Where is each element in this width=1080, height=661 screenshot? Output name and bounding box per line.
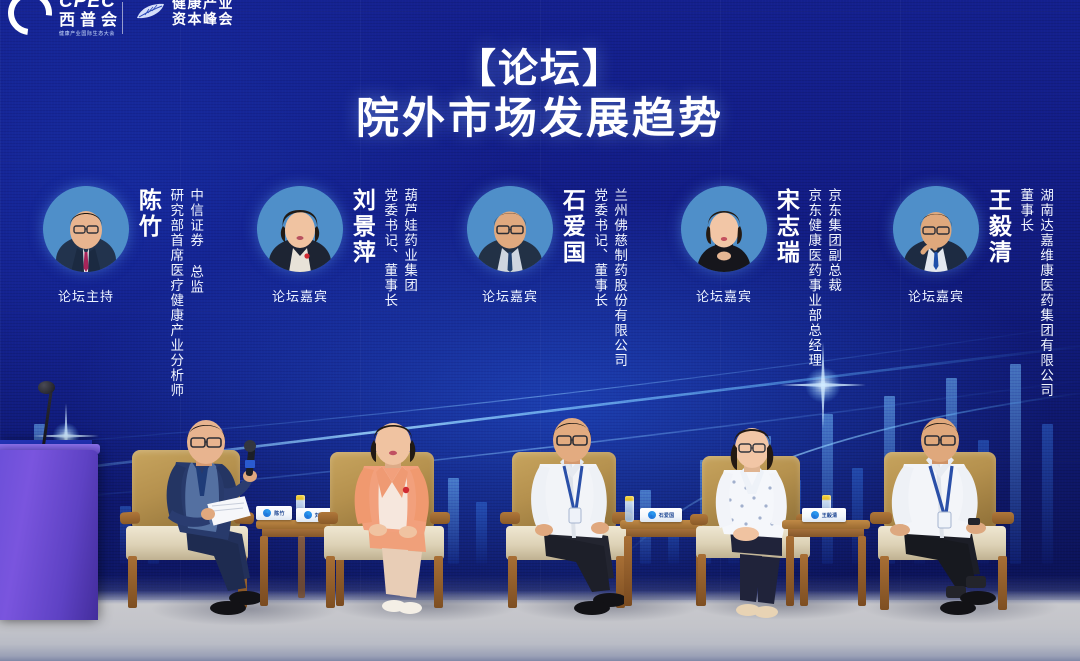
panelist-role: 论坛嘉宾 bbox=[482, 286, 538, 305]
panelist-card-row: 论坛主持 陈竹 中信证券 总监 研究部首席医疗健康产业分析师 bbox=[0, 186, 1080, 446]
panelist-card: 论坛嘉宾 石爱国 兰州佛慈制药股份有限公司 党委书记、董事长 bbox=[462, 186, 627, 368]
conference-stage-scene: CPEC 西普会 健康产业国际生态大会 健康产业 资本峰会 【论坛】 院外市场发… bbox=[0, 0, 1080, 661]
panelist-titles: 京东集团副总裁 京东健康医药事业部总经理 bbox=[801, 188, 841, 368]
panelist-portrait bbox=[257, 186, 343, 272]
water-bottle bbox=[625, 496, 634, 522]
panelist-portrait bbox=[467, 186, 553, 272]
panelist-title-line: 兰州佛慈制药股份有限公司 bbox=[610, 188, 627, 368]
panelist-card: 论坛嘉宾 刘景萍 葫芦娃药业集团 党委书记、董事长 bbox=[252, 186, 417, 308]
placard-name: 陈竹 bbox=[274, 510, 284, 517]
cpec-acronym: CPEC bbox=[59, 0, 122, 11]
summit-line-1: 健康产业 bbox=[172, 0, 234, 12]
panelist-title-line: 湖南达嘉维康医药集团有限公司 bbox=[1036, 188, 1053, 398]
forum-title-block: 【论坛】 院外市场发展趋势 bbox=[0, 46, 1080, 146]
panelist-titles: 兰州佛慈制药股份有限公司 党委书记、董事长 bbox=[587, 188, 627, 368]
forum-topic: 院外市场发展趋势 bbox=[0, 94, 1080, 146]
panelist-title-line: 党委书记、董事长 bbox=[590, 188, 607, 368]
name-placard: 石爱国 bbox=[640, 508, 682, 522]
name-placard: 王毅清 bbox=[802, 508, 846, 522]
panelist-title-line: 党委书记、董事长 bbox=[380, 188, 397, 308]
panelist-seated-liu-jingping bbox=[338, 420, 450, 620]
panelist-titles: 葫芦娃药业集团 党委书记、董事长 bbox=[377, 188, 417, 308]
panelist-name: 陈竹 bbox=[136, 188, 160, 240]
microphone-icon bbox=[38, 381, 55, 394]
side-table bbox=[782, 520, 870, 612]
panelist-title-line: 葫芦娃药业集团 bbox=[400, 188, 417, 308]
cpec-subtitle: 健康产业国际生态大会 bbox=[59, 32, 122, 37]
panelist-portrait bbox=[893, 186, 979, 272]
summit-line-2: 资本峰会 bbox=[172, 12, 234, 28]
cpec-ring-icon bbox=[0, 0, 61, 43]
panelist-title-line: 京东集团副总裁 bbox=[824, 188, 841, 368]
placard-logo-icon bbox=[263, 509, 271, 517]
panelist-role: 论坛嘉宾 bbox=[696, 286, 752, 305]
forum-label: 【论坛】 bbox=[0, 46, 1080, 92]
placard-logo-icon bbox=[304, 511, 312, 519]
panelist-card: 论坛主持 陈竹 中信证券 总监 研究部首席医疗健康产业分析师 bbox=[38, 186, 203, 398]
panelist-name: 王毅清 bbox=[986, 188, 1010, 266]
panelist-card: 论坛嘉宾 王毅清 湖南达嘉维康医药集团有限公司 董事长 bbox=[888, 186, 1053, 398]
panelist-name: 刘景萍 bbox=[350, 188, 374, 266]
panelist-portrait bbox=[681, 186, 767, 272]
cpec-logo: CPEC 西普会 健康产业国际生态大会 bbox=[8, 0, 122, 37]
panelist-role: 论坛嘉宾 bbox=[272, 286, 328, 305]
placard-name: 石爱国 bbox=[659, 512, 675, 519]
name-placard: 陈竹 bbox=[256, 506, 292, 520]
panelist-role: 论坛嘉宾 bbox=[908, 286, 964, 305]
logo-divider bbox=[122, 2, 123, 34]
panelist-seated-wang-yiqing bbox=[880, 418, 1012, 620]
panelist-titles: 中信证券 总监 研究部首席医疗健康产业分析师 bbox=[163, 188, 203, 398]
leaf-icon bbox=[136, 2, 166, 22]
placard-name: 王毅清 bbox=[822, 512, 838, 519]
panelist-titles: 湖南达嘉维康医药集团有限公司 董事长 bbox=[1013, 188, 1053, 398]
health-capital-summit-logo: 健康产业 资本峰会 bbox=[136, 0, 234, 27]
panelist-card: 论坛嘉宾 宋志瑞 京东集团副总裁 京东健康医药事业部总经理 bbox=[676, 186, 841, 368]
panelist-role: 论坛主持 bbox=[58, 286, 114, 305]
panelist-name: 石爱国 bbox=[560, 188, 584, 266]
placard-logo-icon bbox=[811, 511, 819, 519]
panelist-portrait bbox=[43, 186, 129, 272]
panelist-name: 宋志瑞 bbox=[774, 188, 798, 266]
podium bbox=[0, 450, 98, 620]
event-logo-bar: CPEC 西普会 健康产业国际生态大会 健康产业 资本峰会 bbox=[0, 0, 1080, 40]
panelist-title-line: 研究部首席医疗健康产业分析师 bbox=[166, 188, 183, 398]
placard-logo-icon bbox=[648, 511, 656, 519]
panelist-title-line: 京东健康医药事业部总经理 bbox=[804, 188, 821, 368]
panelist-title-line: 董事长 bbox=[1016, 188, 1033, 398]
cpec-chinese-name: 西普会 bbox=[59, 13, 122, 29]
panelist-title-line: 中信证券 总监 bbox=[186, 188, 203, 398]
